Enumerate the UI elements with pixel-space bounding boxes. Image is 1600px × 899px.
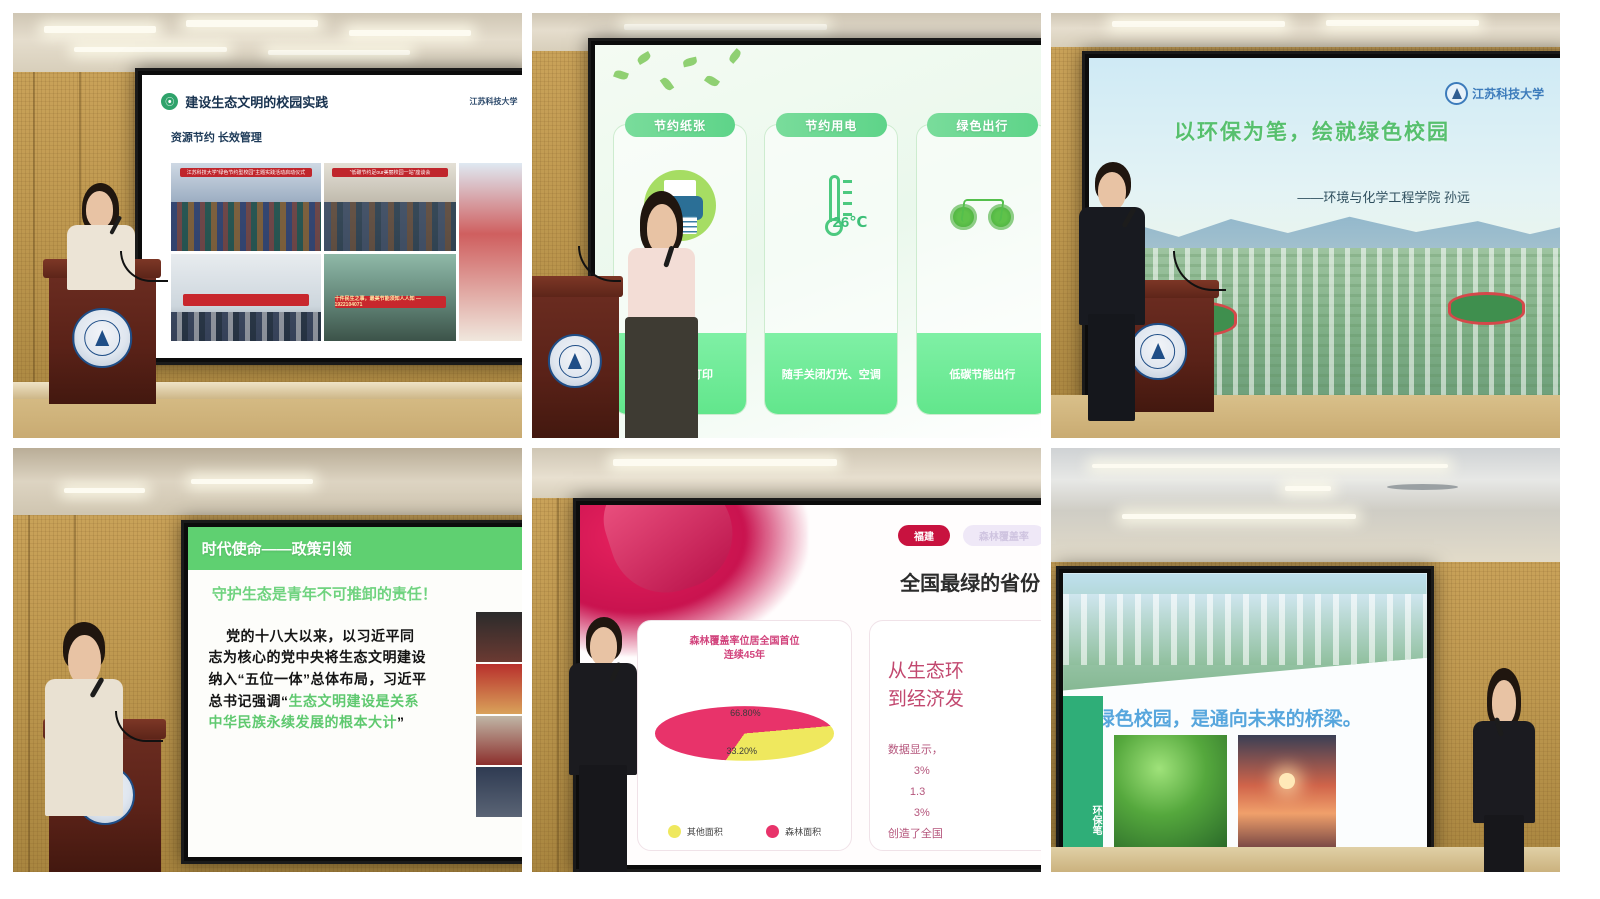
body-line: ” bbox=[397, 714, 405, 730]
right-heading: 从生态环 到经济发 bbox=[888, 658, 1041, 715]
university-crest bbox=[72, 308, 132, 368]
crowd bbox=[171, 202, 321, 250]
thermometer-ticks bbox=[843, 180, 852, 218]
suit-jacket bbox=[569, 663, 637, 775]
head bbox=[68, 635, 101, 685]
chart-title-line2: 连续45年 bbox=[724, 650, 765, 661]
speaker-person bbox=[568, 617, 639, 872]
pie-chart: 66.80% 33.20% bbox=[655, 681, 834, 786]
right-body-line: 数据显示， bbox=[888, 744, 943, 756]
card-pill-label: 绿色出行 bbox=[927, 113, 1038, 137]
lecture-hall-room: 以环保为笔，绘就绿色校园 ——环境与化学工程学院 孙远 江苏科技大学 bbox=[1051, 13, 1560, 438]
leaf-icon bbox=[613, 69, 629, 81]
ceiling bbox=[1051, 448, 1560, 563]
panel-speaker-4-policy-guidance: 时代使命——政策引领 守护生态是青年不可推卸的责任！ 党的十八大以来，以习近平同… bbox=[13, 448, 522, 873]
ceiling bbox=[13, 448, 522, 516]
podium bbox=[532, 276, 619, 437]
panel-speaker-3-title-slide: 以环保为笔，绘就绿色校园 ——环境与化学工程学院 孙远 江苏科技大学 bbox=[1051, 13, 1560, 438]
thumbnail bbox=[476, 716, 523, 766]
photo-collage: ⦿ 建设生态文明的校园实践 江苏科技大学 资源节约 长效管理 江苏科技大学“绿色… bbox=[0, 0, 1600, 899]
sun-icon bbox=[1279, 773, 1295, 789]
leaf-icon bbox=[682, 56, 697, 67]
card-green-travel: 绿色出行 低碳节能出行 bbox=[916, 124, 1041, 415]
head bbox=[86, 191, 113, 227]
trousers bbox=[1484, 815, 1523, 872]
right-body-line: 1.3 bbox=[910, 782, 925, 803]
tree-canopy-photo bbox=[1114, 735, 1227, 847]
chart-legend: 其他面积 森林面积 bbox=[646, 825, 843, 838]
head bbox=[1098, 172, 1127, 210]
speaker-person bbox=[624, 191, 700, 437]
legend-item: 其他面积 bbox=[668, 825, 723, 838]
sailboat-icon bbox=[1151, 343, 1165, 359]
slide-4-body: 党的十八大以来，以习近平同 志为核心的党中央将生态文明建设 纳入“五位一体”总体… bbox=[209, 626, 510, 734]
badge-secondary: 森林覆盖率 bbox=[963, 525, 1041, 546]
right-body-line: 创造了全国 bbox=[888, 828, 943, 840]
body-line-highlight: 中华民族永续发展的根本大计 bbox=[209, 714, 398, 730]
ceiling-light bbox=[613, 459, 837, 466]
temperature-value: 26℃ bbox=[833, 213, 868, 231]
skirt bbox=[625, 317, 698, 438]
logo-text: 江苏科技大学 bbox=[1472, 85, 1544, 102]
bicycle bbox=[950, 181, 1014, 231]
thermometer-icon: 26℃ bbox=[796, 170, 867, 241]
campus-buildings bbox=[1063, 594, 1427, 664]
leaf-icon bbox=[728, 49, 743, 65]
ceiling-light bbox=[186, 20, 318, 27]
slide-5-canvas: 森林覆盖率 福建 全国最绿的省份 森林覆盖率位居全国首位 连续45年 bbox=[580, 505, 1041, 865]
card-pill-label: 节约纸张 bbox=[625, 113, 736, 137]
legend-swatch-other bbox=[668, 825, 681, 838]
card-electricity-saving: 节约用电 26℃ 随手关闭灯光、空调 bbox=[764, 124, 898, 415]
chart-title-line1: 森林覆盖率位居全国首位 bbox=[689, 636, 799, 647]
lecture-hall-room: ⦿ 建设生态文明的校园实践 江苏科技大学 资源节约 长效管理 江苏科技大学“绿色… bbox=[13, 13, 522, 438]
lecture-hall-room: 森林覆盖率 福建 全国最绿的省份 森林覆盖率位居全国首位 连续45年 bbox=[532, 448, 1041, 873]
slide-1-title: 建设生态文明的校园实践 bbox=[185, 92, 328, 111]
ceiling-light bbox=[44, 26, 156, 33]
sailboat-icon bbox=[95, 330, 109, 346]
slide-6-title: 绿色校园，是通向未来的桥梁。 bbox=[1096, 704, 1362, 731]
wall-seam bbox=[557, 498, 559, 872]
body-line: 总书记强调“ bbox=[209, 693, 289, 709]
ceiling-light bbox=[64, 488, 145, 493]
slide-5-title: 全国最绿的省份 bbox=[900, 567, 1040, 596]
leaf-badge-icon: ⦿ bbox=[161, 93, 178, 110]
crest-inner bbox=[559, 345, 592, 378]
slide-4-thumbnails bbox=[476, 612, 523, 817]
ceiling-light bbox=[191, 479, 313, 484]
slide-4: 时代使命——政策引领 守护生态是青年不可推卸的责任！ 党的十八大以来，以习近平同… bbox=[188, 527, 522, 857]
slide-5: 森林覆盖率 福建 全国最绿的省份 森林覆盖率位居全国首位 连续45年 bbox=[580, 505, 1041, 865]
ceiling-speaker bbox=[1387, 484, 1458, 490]
lecture-hall-room: 时代使命——政策引领 守护生态是青年不可推卸的责任！ 党的十八大以来，以习近平同… bbox=[13, 448, 522, 873]
body-line-highlight: 生态文明建设是关系 bbox=[289, 693, 420, 709]
ceiling bbox=[13, 13, 522, 72]
bicycle-icon bbox=[947, 170, 1018, 241]
side-tile: 环保笔 bbox=[1063, 696, 1103, 847]
projection-screen: ⦿ 建设生态文明的校园实践 江苏科技大学 资源节约 长效管理 江苏科技大学“绿色… bbox=[135, 68, 522, 365]
slide-4-canvas: 时代使命——政策引领 守护生态是青年不可推卸的责任！ 党的十八大以来，以习近平同… bbox=[188, 527, 522, 857]
sunset-road-photo bbox=[1238, 735, 1336, 847]
projection-screen: 时代使命——政策引领 守护生态是青年不可推卸的责任！ 党的十八大以来，以习近平同… bbox=[181, 520, 522, 864]
photo-thumb bbox=[171, 254, 321, 342]
ceiling-vent bbox=[1285, 486, 1331, 491]
thermometer: 26℃ bbox=[821, 175, 842, 236]
slide-4-header-bar: 时代使命——政策引领 bbox=[188, 527, 522, 570]
chart-card: 森林覆盖率位居全国首位 连续45年 66.80% 33.20% bbox=[637, 620, 853, 850]
legend-label: 其他面积 bbox=[687, 825, 723, 838]
speaker-person bbox=[1473, 668, 1534, 872]
lecture-hall-room: 绿色校园，是通向未来的桥梁。 环保笔 bbox=[1051, 448, 1560, 873]
wall-seam bbox=[28, 515, 30, 872]
photo-caption: “低碳节约足our美丽校园一站”座谈会 bbox=[332, 168, 448, 177]
ceiling-light bbox=[1092, 464, 1448, 468]
slide-3-title: 以环保为笔，绘就绿色校园 bbox=[1174, 116, 1450, 146]
body-line: 纳入“五位一体”总体布局，习近平 bbox=[209, 671, 427, 687]
right-body-line: 3% bbox=[914, 761, 930, 782]
photo-thumb bbox=[459, 163, 522, 341]
trousers bbox=[1088, 314, 1135, 421]
legend-label: 森林面积 bbox=[785, 825, 821, 838]
photo-caption: 江苏科技大学“绿色节约型校园”主题实践活动启动仪式 bbox=[180, 168, 312, 177]
lecture-hall-room: 节约纸张 选择双面打印 bbox=[532, 13, 1041, 438]
slide-6-canvas: 绿色校园，是通向未来的桥梁。 环保笔 bbox=[1063, 573, 1427, 852]
body-line: 党的十八大以来，以习近平同 bbox=[226, 628, 415, 644]
card-caption: 低碳节能出行 bbox=[917, 333, 1041, 414]
slide-1-photo-grid: 江苏科技大学“绿色节约型校园”主题实践活动启动仪式 “低碳节约足our美丽校园一… bbox=[171, 163, 522, 341]
photo-thumb: 十件民生之事，最美节能须知人人知 —1922104071 bbox=[324, 254, 456, 342]
panel-speaker-6-bridge-to-future: 绿色校园，是通向未来的桥梁。 环保笔 bbox=[1051, 448, 1560, 873]
body-line: 志为核心的党中央将生态文明建设 bbox=[209, 649, 427, 665]
right-body-line: 3% bbox=[914, 803, 930, 824]
ceiling-light bbox=[74, 47, 227, 52]
crest-inner bbox=[84, 320, 120, 356]
side-tile-label: 环保笔 bbox=[1063, 805, 1103, 835]
leaf-icon bbox=[704, 73, 720, 87]
photo-banner: 十件民生之事，最美节能须知人人知 —1922104071 bbox=[335, 296, 446, 308]
photo-thumb: 江苏科技大学“绿色节约型校园”主题实践活动启动仪式 bbox=[171, 163, 321, 251]
thumbnail bbox=[476, 612, 523, 662]
crowd bbox=[324, 202, 456, 250]
slide-6: 绿色校园，是通向未来的桥梁。 环保笔 bbox=[1063, 573, 1427, 852]
card-caption: 随手关闭灯光、空调 bbox=[765, 333, 897, 414]
speaker-person bbox=[1076, 162, 1147, 417]
right-body: 数据显示， 3% 1.3 3% 创造了全国 bbox=[888, 740, 1041, 844]
ceiling-light bbox=[268, 50, 411, 55]
thumbnail bbox=[476, 767, 523, 817]
panel-speaker-1-resource-conservation: ⦿ 建设生态文明的校园实践 江苏科技大学 资源节约 长效管理 江苏科技大学“绿色… bbox=[13, 13, 522, 438]
slide-1-subtitle: 资源节约 长效管理 bbox=[171, 129, 262, 145]
ceiling bbox=[532, 448, 1041, 499]
campus-panorama bbox=[1063, 573, 1427, 690]
right-heading-line1: 从生态环 bbox=[888, 661, 964, 682]
bike-frame bbox=[960, 199, 1004, 222]
leaf-icon bbox=[636, 51, 652, 65]
slide-1-org: 江苏科技大学 bbox=[470, 96, 518, 107]
photo-thumb: “低碳节约足our美丽校园一站”座谈会 bbox=[324, 163, 456, 251]
text-card: 从生态环 到经济发 数据显示， 3% 1.3 3% 创造了全国 bbox=[869, 620, 1041, 850]
card-pill-label: 节约用电 bbox=[776, 113, 887, 137]
university-logo: 江苏科技大学 bbox=[1445, 82, 1544, 105]
panel-speaker-2-energy-saving: 节约纸张 选择双面打印 bbox=[532, 13, 1041, 438]
thumbnail bbox=[476, 664, 523, 714]
right-heading-line2: 到经济发 bbox=[888, 689, 964, 710]
slide-1: ⦿ 建设生态文明的校园实践 江苏科技大学 资源节约 长效管理 江苏科技大学“绿色… bbox=[142, 75, 522, 358]
slide-4-lead: 守护生态是青年不可推卸的责任！ bbox=[212, 583, 437, 604]
ceiling-light bbox=[1112, 21, 1285, 27]
ceiling-light bbox=[1326, 20, 1479, 26]
crowd bbox=[171, 312, 321, 342]
chart-title: 森林覆盖率位居全国首位 连续45年 bbox=[638, 635, 852, 663]
pie-value-label: 33.20% bbox=[727, 746, 758, 756]
sailboat-icon bbox=[568, 353, 582, 369]
panel-speaker-5-greenest-province: 森林覆盖率 福建 全国最绿的省份 森林覆盖率位居全国首位 连续45年 bbox=[532, 448, 1041, 873]
blouse bbox=[628, 248, 695, 322]
projection-screen: 森林覆盖率 福建 全国最绿的省份 森林覆盖率位居全国首位 连续45年 bbox=[573, 498, 1041, 872]
trousers bbox=[579, 765, 627, 872]
slide-3-subtitle: ——环境与化学工程学院 孙远 bbox=[1297, 187, 1470, 206]
slide-1-header: ⦿ 建设生态文明的校园实践 bbox=[161, 92, 328, 111]
sweater bbox=[45, 679, 123, 817]
province-badge: 福建 bbox=[898, 525, 950, 546]
projection-screen: 绿色校园，是通向未来的桥梁。 环保笔 bbox=[1056, 566, 1434, 859]
head bbox=[590, 627, 617, 665]
ceiling-light bbox=[349, 30, 471, 36]
ceiling-light bbox=[1122, 514, 1356, 519]
university-crest bbox=[548, 334, 602, 388]
suit-jacket bbox=[1473, 721, 1534, 823]
pie-value-label: 66.80% bbox=[730, 708, 761, 718]
sports-track bbox=[1448, 292, 1525, 325]
legend-item: 森林面积 bbox=[766, 825, 821, 838]
ceiling bbox=[1051, 13, 1560, 47]
legend-swatch-forest bbox=[766, 825, 779, 838]
sail bbox=[1452, 88, 1462, 99]
ceiling-light bbox=[624, 24, 828, 30]
sailboat-icon bbox=[1445, 82, 1468, 105]
speaker-person bbox=[44, 622, 125, 813]
leaf-icon bbox=[659, 76, 674, 92]
slide-4-header: 时代使命——政策引领 bbox=[202, 538, 352, 559]
photo-banner bbox=[183, 294, 309, 306]
suit-jacket bbox=[1079, 207, 1145, 324]
